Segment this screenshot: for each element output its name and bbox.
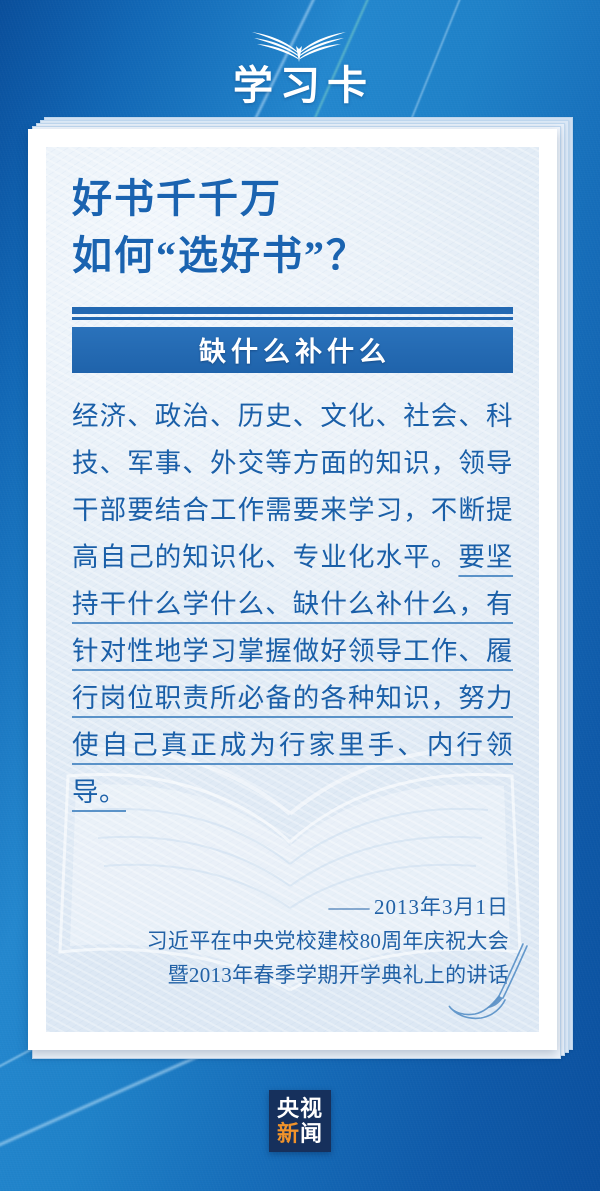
quote-card: 好书千千万 如何“选好书”？ 缺什么补什么 经济、政治、历史、文化、社会、科技、… bbox=[28, 129, 557, 1050]
section-banner: 缺什么补什么 bbox=[72, 307, 513, 373]
poster-root: 学习卡 bbox=[0, 0, 600, 1191]
attribution-date-row: —— 2013年3月1日 bbox=[147, 890, 509, 924]
banner-rule-thin bbox=[72, 317, 513, 320]
banner-bar: 缺什么补什么 bbox=[72, 327, 513, 373]
open-book-icon bbox=[248, 22, 352, 62]
attribution-date: 2013年3月1日 bbox=[374, 895, 509, 919]
logo-char-xin: 新 bbox=[277, 1121, 300, 1146]
page-title: 好书千千万 如何“选好书”？ bbox=[72, 171, 513, 285]
cctv-news-logo: 央视 新闻 bbox=[269, 1090, 331, 1152]
headline-line-1: 好书千千万 bbox=[72, 176, 282, 221]
brand-title: 学习卡 bbox=[226, 66, 374, 106]
attribution-dash: —— bbox=[328, 895, 368, 919]
logo-char-wen: 闻 bbox=[300, 1121, 323, 1146]
banner-label: 缺什么补什么 bbox=[194, 330, 391, 369]
card-content: 好书千千万 如何“选好书”？ 缺什么补什么 经济、政治、历史、文化、社会、科技、… bbox=[46, 147, 539, 816]
card-paper: 好书千千万 如何“选好书”？ 缺什么补什么 经济、政治、历史、文化、社会、科技、… bbox=[46, 147, 539, 1032]
card-stack: 好书千千万 如何“选好书”？ 缺什么补什么 经济、政治、历史、文化、社会、科技、… bbox=[28, 117, 573, 1057]
logo-text-bottom: 新闻 bbox=[277, 1121, 323, 1146]
quote-paragraph-2-underlined: 要坚持干什么学什么、缺什么补什么，有针对性地学习掌握做好领导工作、履行岗位职责所… bbox=[72, 542, 513, 807]
banner-rule-thick bbox=[72, 307, 513, 314]
quote-body: 经济、政治、历史、文化、社会、科技、军事、外交等方面的知识，领导干部要结合工作需… bbox=[72, 393, 513, 816]
headline-line-2: 如何“选好书”？ bbox=[72, 228, 513, 285]
calligraphy-brush-flourish bbox=[437, 942, 533, 1028]
quote-paragraph-1: 经济、政治、历史、文化、社会、科技、军事、外交等方面的知识，领导干部要结合工作需… bbox=[72, 401, 513, 572]
logo-text-top: 央视 bbox=[277, 1096, 323, 1121]
header: 学习卡 bbox=[0, 0, 600, 115]
